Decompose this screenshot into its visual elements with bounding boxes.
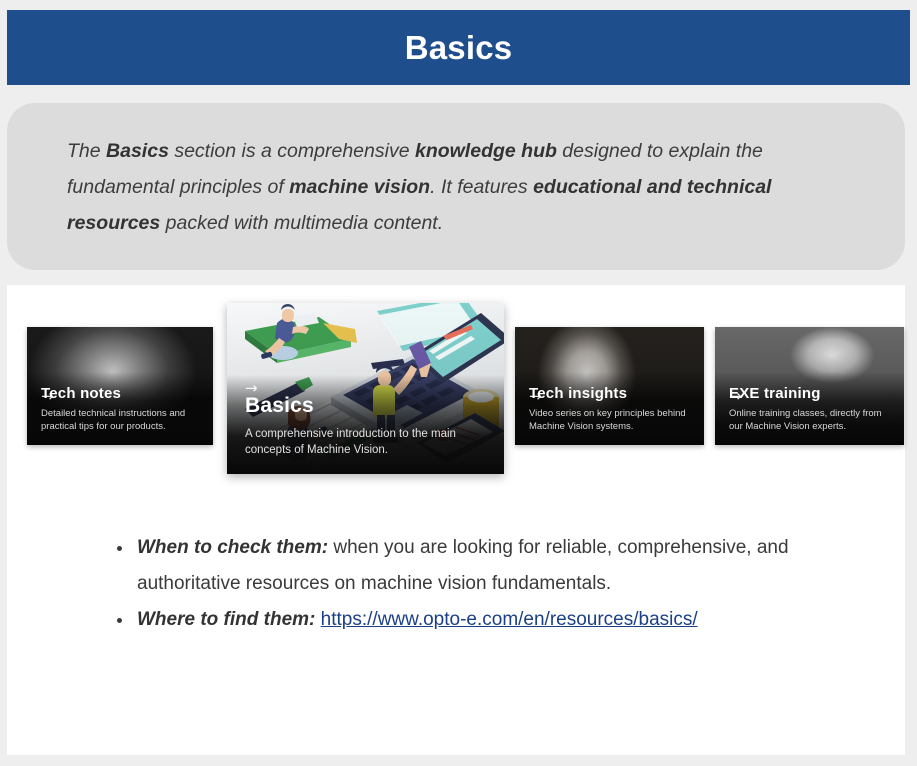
card-description: Online training classes, directly from o… <box>729 407 890 433</box>
bullet-item-where-to-find: Where to find them: https://www.opto-e.c… <box>111 602 871 638</box>
info-bullet-list: When to check them: when you are looking… <box>111 530 871 638</box>
bullet-lead: Where to find them: <box>137 609 315 630</box>
intro-text-run: The <box>67 140 106 162</box>
bullet-item-when-to-check: When to check them: when you are looking… <box>111 530 871 602</box>
resource-card-tech-notes[interactable]: → Tech notes Detailed technical instruct… <box>27 327 213 445</box>
content-panel: → Tech notes Detailed technical instruct… <box>7 285 905 755</box>
intro-callout: The Basics section is a comprehensive kn… <box>7 103 905 270</box>
card-description: A comprehensive introduction to the main… <box>245 426 486 458</box>
resource-card-row: → Tech notes Detailed technical instruct… <box>7 285 905 490</box>
card-description: Video series on key principles behind Ma… <box>529 407 690 433</box>
resource-card-exe-training[interactable]: → EXE training Online training classes, … <box>715 327 904 445</box>
card-body: Basics A comprehensive introduction to t… <box>227 394 504 474</box>
card-description: Detailed technical instructions and prac… <box>41 407 199 433</box>
basics-resource-link[interactable]: https://www.opto-e.com/en/resources/basi… <box>321 609 698 630</box>
intro-paragraph: The Basics section is a comprehensive kn… <box>67 133 853 241</box>
page-title: Basics <box>405 31 513 64</box>
page-header-banner: Basics <box>7 10 910 85</box>
bullet-lead: When to check them: <box>137 537 328 558</box>
intro-emphasis: Basics <box>106 140 169 162</box>
card-title: Basics <box>245 394 486 418</box>
card-body: Tech insights Video series on key princi… <box>515 385 704 445</box>
resource-card-basics[interactable]: → Basics A comprehensive introduction to… <box>227 303 504 474</box>
resource-card-tech-insights[interactable]: → Tech insights Video series on key prin… <box>515 327 704 445</box>
intro-text-run: section is a comprehensive <box>169 140 415 162</box>
card-body: Tech notes Detailed technical instructio… <box>27 385 213 445</box>
intro-text-run: . It features <box>430 176 533 198</box>
card-body: EXE training Online training classes, di… <box>715 385 904 445</box>
card-title: Tech notes <box>41 385 199 402</box>
card-title: EXE training <box>729 385 890 402</box>
intro-emphasis: knowledge hub <box>415 140 557 162</box>
card-title: Tech insights <box>529 385 690 402</box>
intro-text-run: packed with multimedia content. <box>160 212 443 234</box>
intro-emphasis: machine vision <box>289 176 430 198</box>
